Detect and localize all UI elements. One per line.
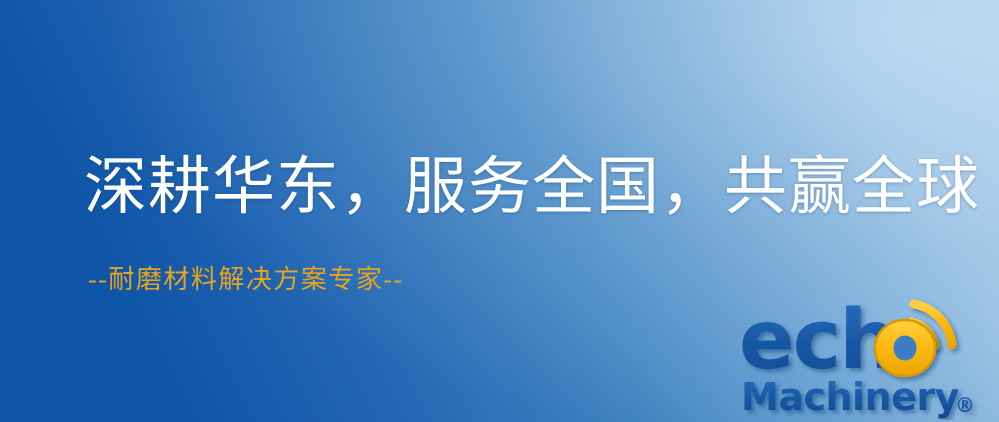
svg-text:ech: ech	[739, 293, 896, 388]
banner-headline: 深耕华东，服务全国，共赢全球	[84, 152, 980, 223]
svg-text:Machinery: Machinery	[741, 375, 960, 419]
echo-machinery-logo[interactable]: ech Machinery ®	[739, 290, 991, 420]
svg-text:®: ®	[955, 393, 975, 417]
banner-subtitle: --耐磨材料解决方案专家--	[88, 264, 404, 295]
logo-tagline: Machinery ®	[741, 375, 975, 419]
logo-wordmark-o	[875, 320, 935, 376]
hero-banner: 深耕华东，服务全国，共赢全球 --耐磨材料解决方案专家--	[0, 0, 999, 422]
logo-wordmark-ech: ech	[739, 293, 896, 388]
